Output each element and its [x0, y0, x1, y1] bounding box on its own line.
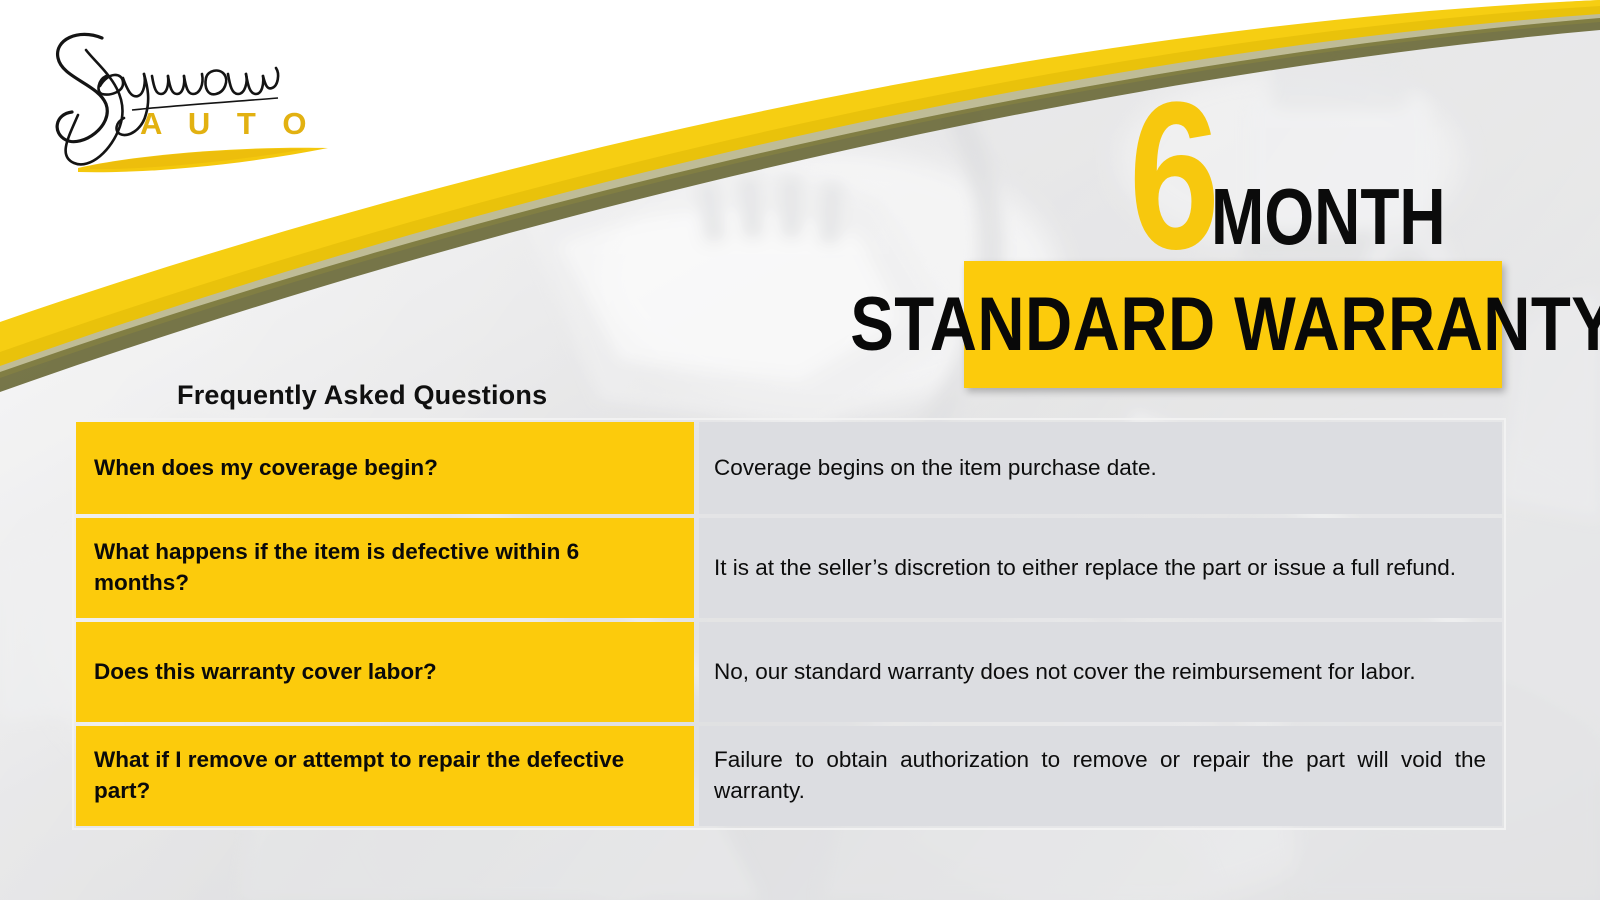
faq-answer-text: No, our standard warranty does not cover… [714, 657, 1486, 688]
faq-question-cell: What if I remove or attempt to repair th… [76, 726, 694, 826]
warranty-slide: A U T O 6 MONTH STANDARD WARRANTY Freque… [0, 0, 1600, 900]
faq-question-text: What happens if the item is defective wi… [94, 537, 676, 598]
faq-answer-text: Coverage begins on the item purchase dat… [714, 453, 1486, 484]
term-unit: MONTH [1211, 186, 1446, 258]
table-row: When does my coverage begin? Coverage be… [76, 422, 1502, 514]
standard-warranty-banner: STANDARD WARRANTY [964, 261, 1502, 388]
faq-table: When does my coverage begin? Coverage be… [72, 418, 1506, 830]
table-row: What if I remove or attempt to repair th… [76, 726, 1502, 826]
faq-question-cell: What happens if the item is defective wi… [76, 518, 694, 618]
warranty-term-headline: 6 MONTH [1104, 78, 1504, 258]
faq-heading: Frequently Asked Questions [177, 380, 547, 411]
faq-question-cell: When does my coverage begin? [76, 422, 694, 514]
faq-answer-text: It is at the seller’s discretion to eith… [714, 553, 1486, 584]
seymour-auto-logo: A U T O [28, 22, 338, 182]
faq-question-text: What if I remove or attempt to repair th… [94, 745, 676, 806]
standard-warranty-banner-text: STANDARD WARRANTY [851, 287, 1600, 363]
faq-question-text: Does this warranty cover labor? [94, 657, 437, 688]
table-row: Does this warranty cover labor? No, our … [76, 622, 1502, 722]
faq-question-cell: Does this warranty cover labor? [76, 622, 694, 722]
term-number: 6 [1129, 94, 1217, 258]
table-row: What happens if the item is defective wi… [76, 518, 1502, 618]
faq-answer-text: Failure to obtain authorization to remov… [714, 745, 1486, 806]
svg-text:A U T O: A U T O [140, 106, 316, 141]
faq-answer-cell: It is at the seller’s discretion to eith… [699, 518, 1502, 618]
faq-answer-cell: Coverage begins on the item purchase dat… [699, 422, 1502, 514]
faq-answer-cell: No, our standard warranty does not cover… [699, 622, 1502, 722]
faq-answer-cell: Failure to obtain authorization to remov… [699, 726, 1502, 826]
faq-question-text: When does my coverage begin? [94, 453, 438, 484]
